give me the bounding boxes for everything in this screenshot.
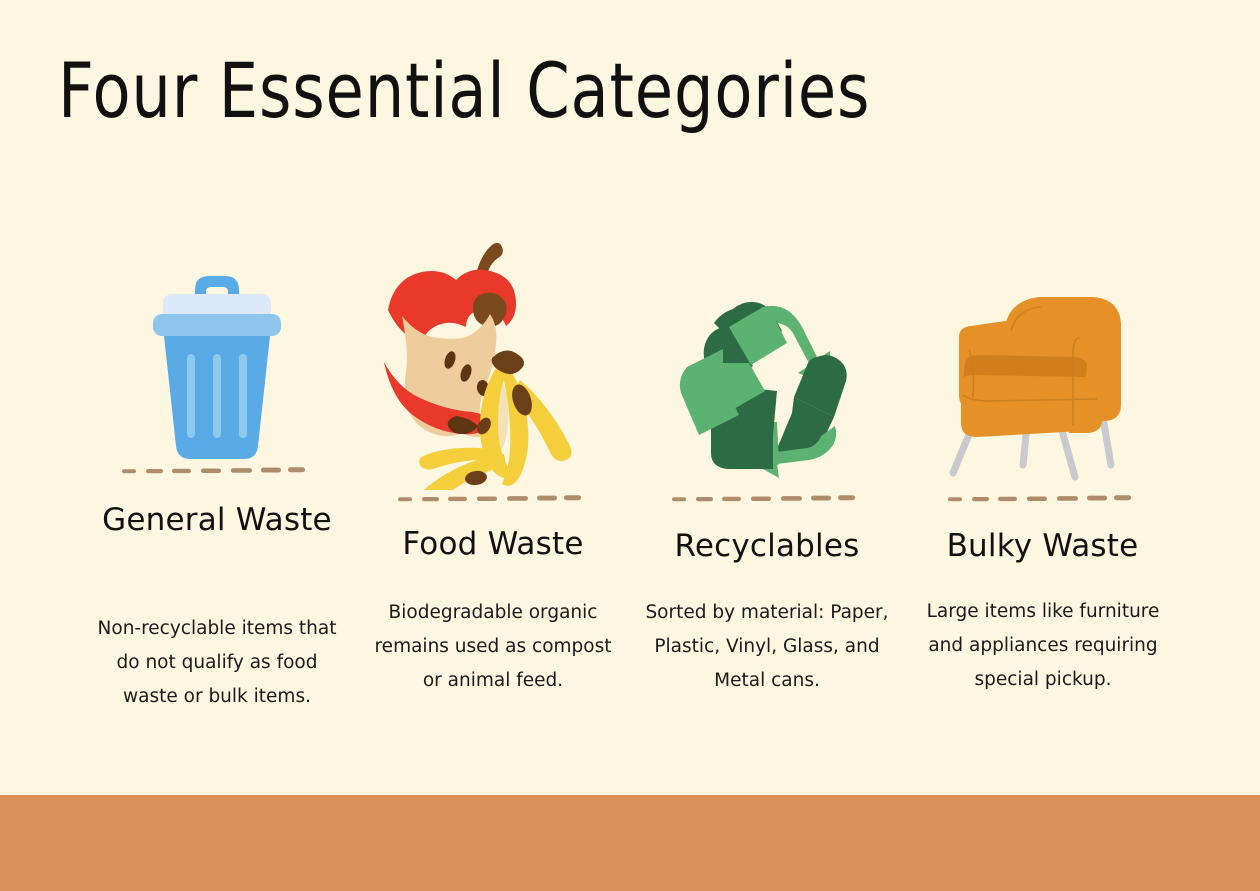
icon-container — [368, 240, 618, 490]
trash-bin-icon — [137, 250, 297, 465]
icon-container — [915, 275, 1170, 490]
poster-canvas: Four Essential Categories — [0, 0, 1260, 891]
category-heading: Bulky Waste — [915, 518, 1170, 574]
apple-core-banana-peel-icon — [378, 240, 608, 490]
category-heading: Food Waste — [368, 516, 618, 572]
category-description: Non-recyclable items that do not qualify… — [92, 612, 342, 714]
categories-row: General Waste Non-recyclable items that … — [0, 0, 1260, 795]
category-description: Biodegradable organic remains used as co… — [368, 596, 618, 698]
footer-bar — [0, 795, 1260, 891]
dashed-divider — [672, 494, 862, 502]
icon-container — [642, 285, 892, 490]
dashed-divider — [398, 494, 588, 502]
category-description: Sorted by material: Paper, Plastic, Viny… — [642, 596, 892, 698]
dashed-divider — [948, 494, 1138, 502]
category-description: Large items like furniture and appliance… — [909, 595, 1177, 697]
dashed-divider — [122, 466, 312, 474]
category-heading: Recyclables — [642, 518, 892, 574]
recycling-symbol-icon — [667, 295, 867, 490]
category-heading: General Waste — [92, 492, 342, 548]
armchair-icon — [935, 275, 1150, 490]
icon-container — [92, 250, 342, 465]
